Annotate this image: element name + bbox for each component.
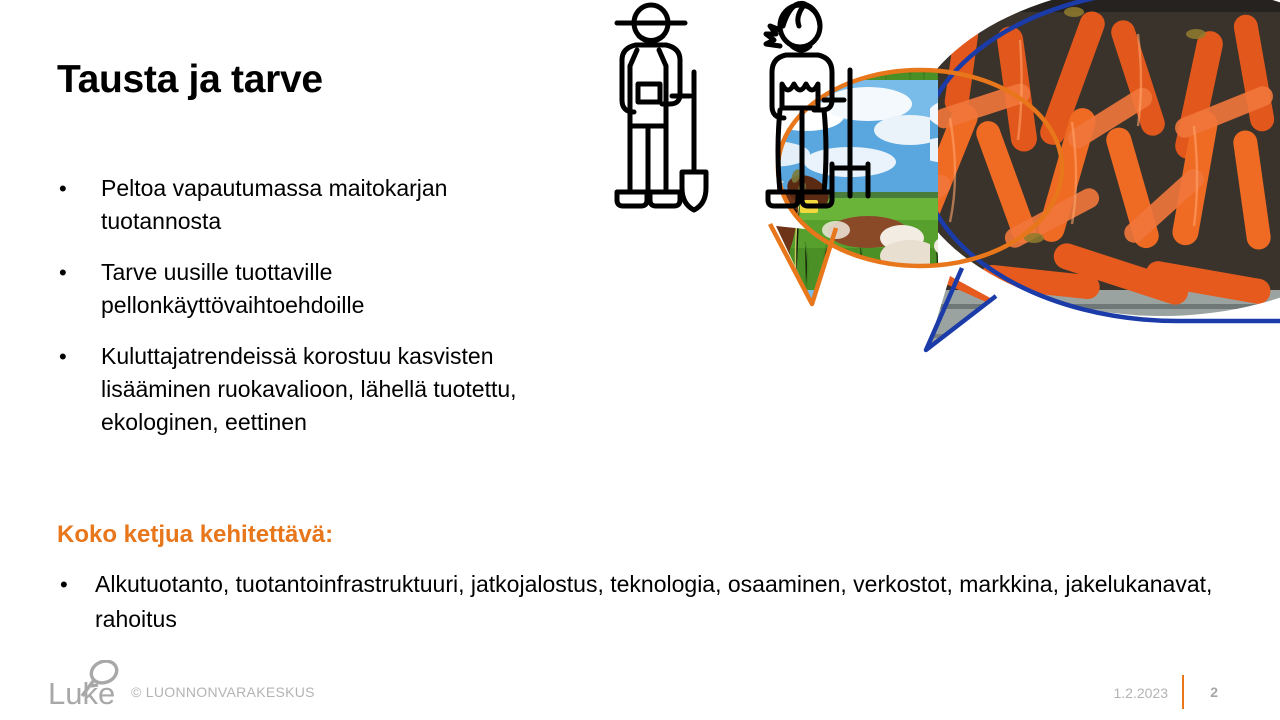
list-item-text: Kuluttajatrendeissä korostuu kasvisten l… [101, 340, 555, 439]
copyright-text: © LUONNONVARAKESKUS [131, 684, 315, 700]
list-item: • Peltoa vapautumassa maitokarjan tuotan… [55, 172, 555, 238]
slide-date: 1.2.2023 [1114, 685, 1169, 701]
list-item-text: Alkutuotanto, tuotantoinfrastruktuuri, j… [95, 567, 1215, 637]
list-item: • Tarve uusille tuottaville pellonkäyttö… [55, 256, 555, 322]
luke-wordmark: Luke [48, 676, 115, 710]
male-farmer-icon [617, 5, 706, 210]
bullet-marker-icon: • [55, 567, 95, 602]
list-item: • Kuluttajatrendeissä korostuu kasvisten… [55, 340, 555, 439]
page-title: Tausta ja tarve [57, 58, 323, 102]
section-subheading: Koko ketjua kehitettävä: [57, 521, 333, 549]
list-item: • Alkutuotanto, tuotantoinfrastruktuuri,… [55, 567, 1215, 637]
bullet-marker-icon: • [55, 172, 101, 205]
list-item-text: Tarve uusille tuottaville pellonkäyttöva… [101, 256, 555, 322]
luke-logo: Luke [48, 660, 132, 710]
list-item-text: Peltoa vapautumassa maitokarjan tuotanno… [101, 172, 555, 238]
carrot-speech-bubble [630, 0, 1280, 360]
footer-divider [1182, 675, 1184, 709]
illustration-group [590, 0, 1280, 520]
wide-bullet-list: • Alkutuotanto, tuotantoinfrastruktuuri,… [55, 567, 1215, 637]
body-bullet-list: • Peltoa vapautumassa maitokarjan tuotan… [55, 172, 555, 457]
farmers-line-art [617, 3, 868, 210]
bullet-marker-icon: • [55, 340, 101, 373]
page-number: 2 [1210, 684, 1218, 700]
bullet-marker-icon: • [55, 256, 101, 289]
slide: Tausta ja tarve • Peltoa vapautumassa ma… [0, 0, 1280, 720]
